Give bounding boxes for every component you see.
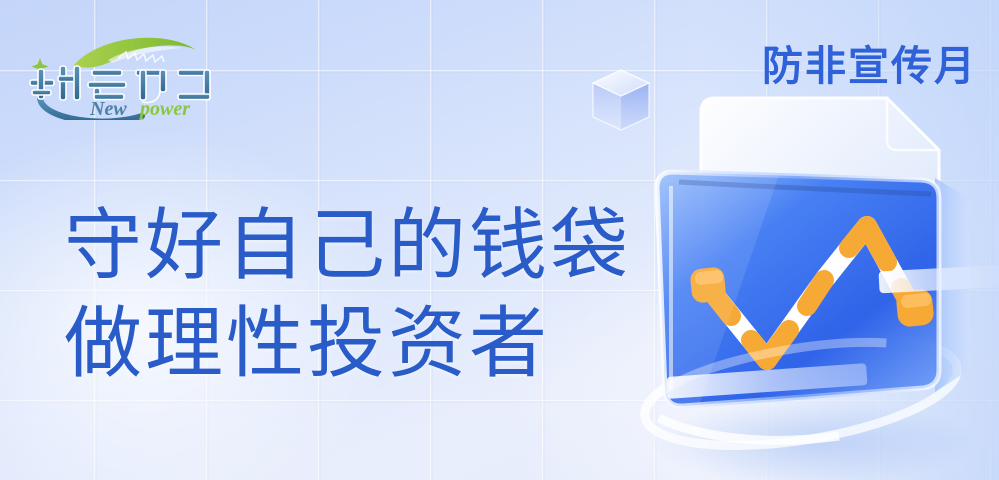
promo-banner: New power 防非宣传月 守好自己的钱袋 做理性投资者 <box>0 0 999 480</box>
headline-line-2: 做理性投资者 <box>64 294 631 392</box>
logo-swoosh-icon <box>74 38 196 68</box>
headline-line-1: 守好自己的钱袋 <box>64 196 631 294</box>
brand-logo[interactable]: New power <box>22 36 232 120</box>
logo-tagline-new: New <box>89 98 127 120</box>
logo-tagline-power: power <box>138 98 190 120</box>
headline-block: 守好自己的钱袋 做理性投资者 <box>64 196 631 392</box>
folder-illustration <box>639 70 999 480</box>
